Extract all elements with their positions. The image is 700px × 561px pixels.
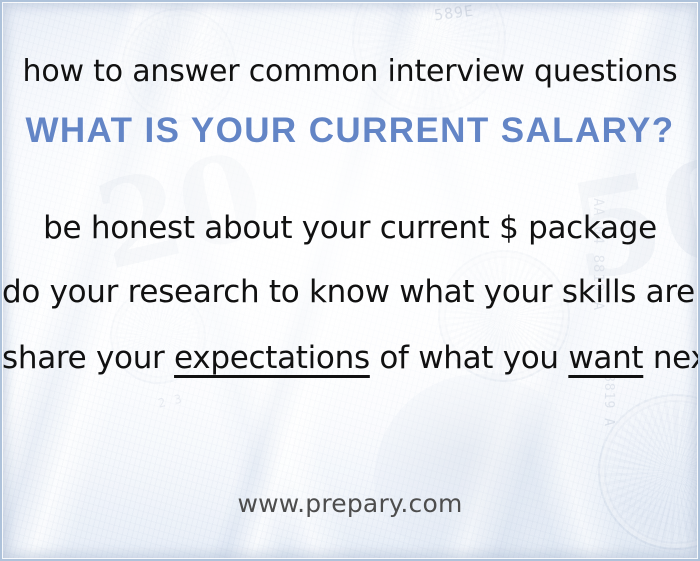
infographic-card: 20 50 589E AA 04 8819 A 8819 A 2 3 how t… — [0, 0, 700, 561]
card-content: how to answer common interview questions… — [2, 2, 698, 559]
text-segment: next — [643, 340, 700, 376]
emphasised-word: expectations — [174, 340, 370, 376]
emphasised-word: want — [568, 340, 643, 376]
text-segment: of what you — [370, 340, 569, 376]
tip-line-1: be honest about your current $ package — [2, 210, 698, 246]
tip-line-3: share your expectations of what you want… — [2, 340, 698, 376]
text-segment: be honest about your current $ package — [43, 210, 657, 246]
website-url: www.prepary.com — [2, 489, 698, 518]
subtitle-text: how to answer common interview questions — [2, 54, 698, 89]
text-segment: do your research to know what your skill… — [2, 274, 700, 310]
tip-line-2: do your research to know what your skill… — [2, 274, 698, 310]
page-title: WHAT IS YOUR CURRENT SALARY? — [2, 111, 698, 151]
text-segment: share your — [2, 340, 174, 376]
